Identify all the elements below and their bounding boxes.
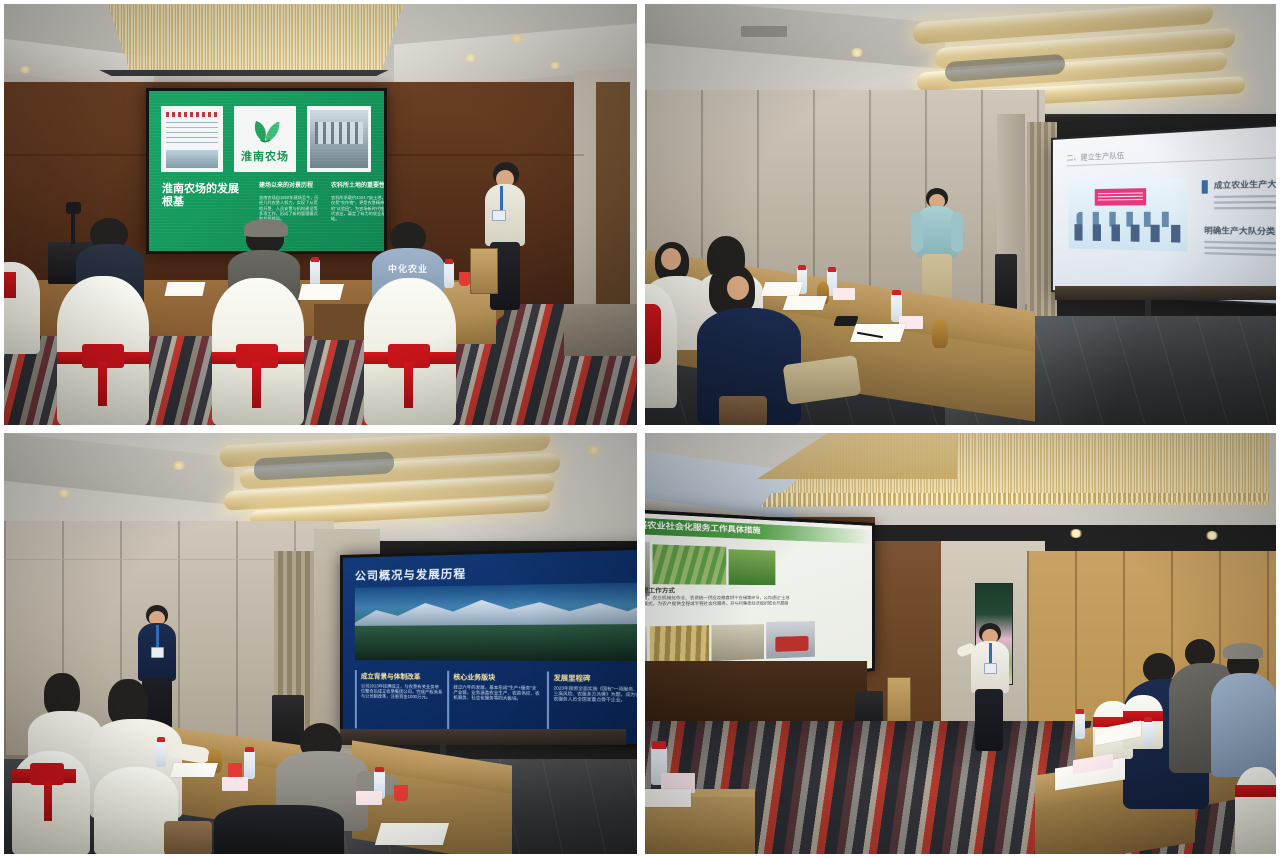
panel-bottom-right: 四、开展农业社会化服务工作具体措施 （一）主要工作方式 围绕土地规模化经营、农业… (645, 433, 1276, 854)
photo-vignette (645, 4, 1276, 425)
scene-training-room-blue-screen: 公司概况与发展历程 成立背景与体制改革 公司2013年挂牌成立，与农垦有关业务单… (4, 433, 637, 854)
photo-collage: 淮南农场 淮南农场的发展 根基 建场以来的对景历程 淮南农场自1950年建场至今… (0, 0, 1280, 858)
photo-vignette (4, 433, 637, 854)
scene-meeting-room-green-screen: 淮南农场 淮南农场的发展 根基 建场以来的对景历程 淮南农场自1950年建场至今… (4, 4, 637, 425)
photo-vignette (645, 433, 1276, 854)
panel-top-left: 淮南农场 淮南农场的发展 根基 建场以来的对景历程 淮南农场自1950年建场至今… (4, 4, 637, 425)
panel-bottom-left: 公司概况与发展历程 成立背景与体制改革 公司2013年挂牌成立，与农垦有关业务单… (4, 433, 637, 854)
scene-banquet-room-farm-slide: 四、开展农业社会化服务工作具体措施 （一）主要工作方式 围绕土地规模化经营、农业… (645, 433, 1276, 854)
panel-top-right: 二、建立生产队伍 成立农业生产大队 明确生产大队分类 (645, 4, 1276, 425)
photo-vignette (4, 4, 637, 425)
scene-training-room-white-screen: 二、建立生产队伍 成立农业生产大队 明确生产大队分类 (645, 4, 1276, 425)
